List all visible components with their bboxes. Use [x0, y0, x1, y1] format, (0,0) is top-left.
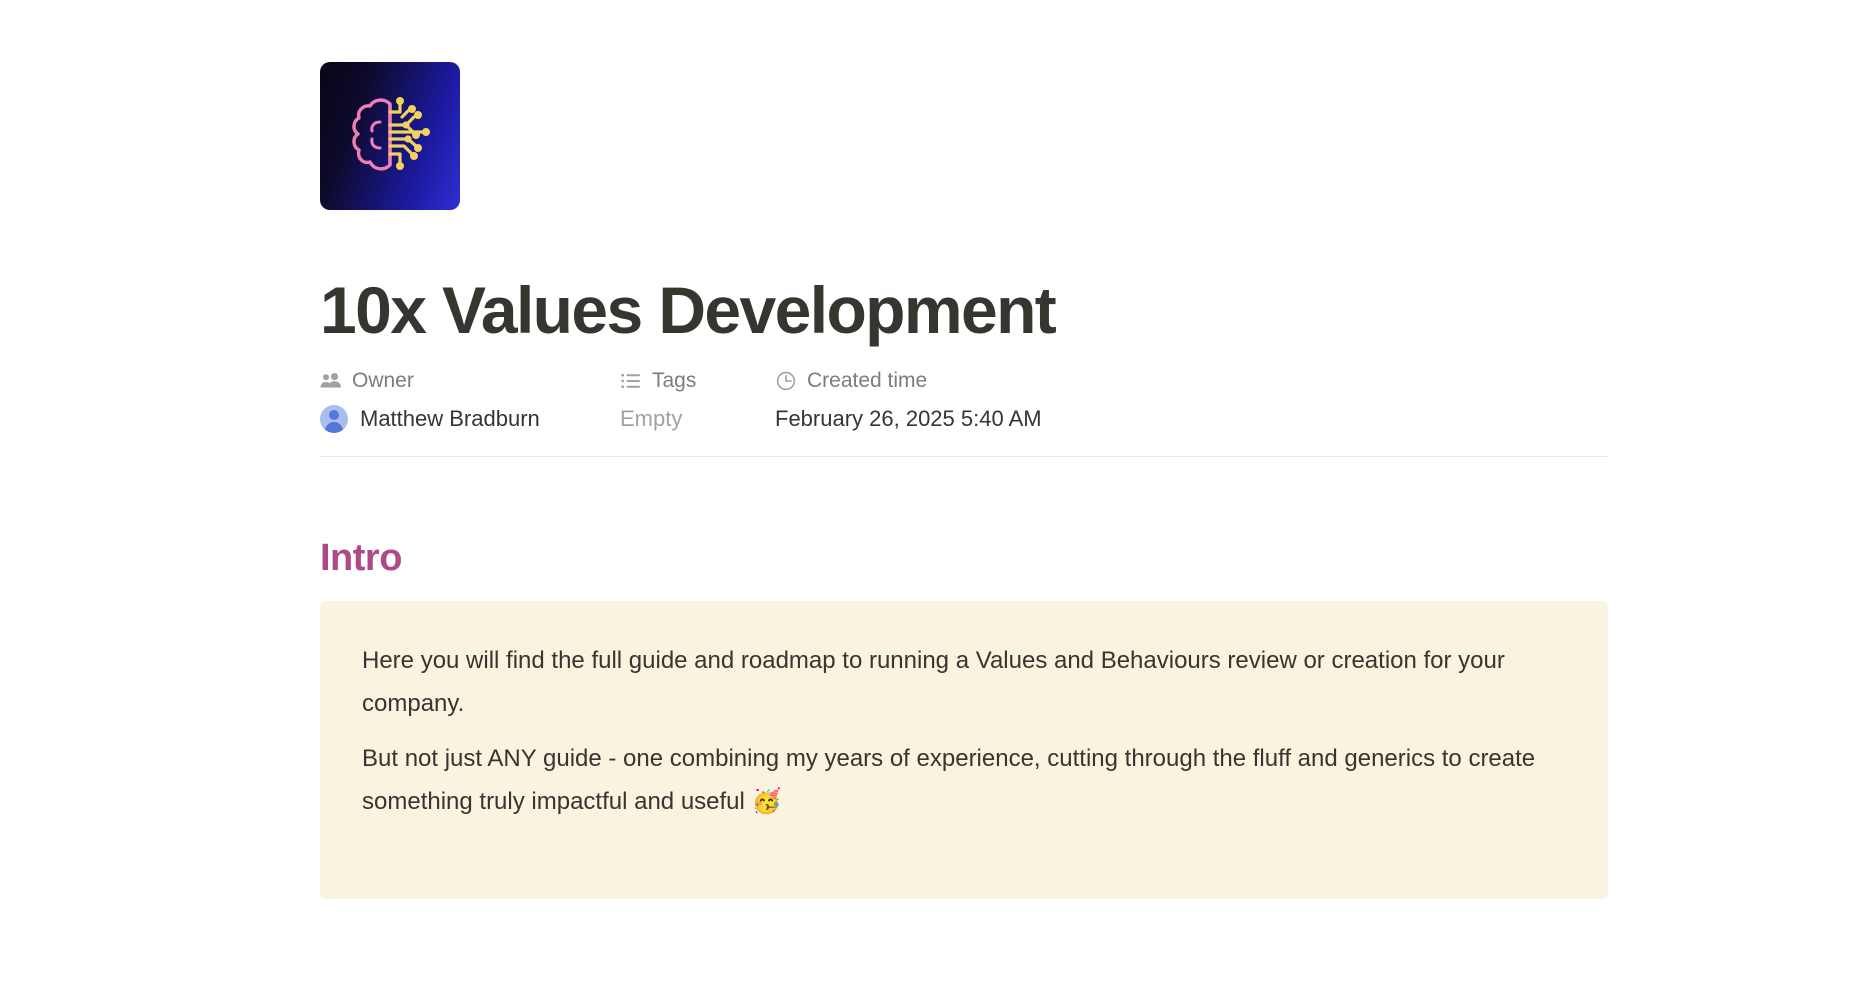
- property-label-text: Created time: [807, 369, 927, 393]
- properties-divider: [320, 456, 1608, 457]
- clock-glyph: [776, 371, 796, 391]
- property-labels-row: Owner: [320, 364, 1620, 398]
- brain-circuit-glyph: [336, 82, 444, 190]
- callout-paragraph-2-text: But not just ANY guide - one combining m…: [362, 745, 1535, 815]
- callout-paragraph-2: But not just ANY guide - one combining m…: [362, 737, 1542, 823]
- callout-block[interactable]: Here you will find the full guide and ro…: [320, 601, 1608, 899]
- property-tags-label[interactable]: Tags: [620, 369, 775, 393]
- property-label-text: Tags: [652, 369, 696, 393]
- property-owner-label[interactable]: Owner: [320, 369, 620, 393]
- tags-empty-text: Empty: [620, 406, 682, 432]
- callout-paragraph-1: Here you will find the full guide and ro…: [362, 639, 1542, 725]
- property-owner-value[interactable]: Matthew Bradburn: [320, 405, 620, 433]
- property-values-row: Matthew Bradburn Empty February 26, 2025…: [320, 402, 1620, 436]
- list-icon: [620, 370, 642, 392]
- property-created-time-label[interactable]: Created time: [775, 369, 1195, 393]
- page-title[interactable]: 10x Values Development: [320, 272, 1620, 348]
- people-glyph: [320, 373, 342, 389]
- brain-circuit-icon[interactable]: [320, 62, 460, 210]
- property-created-time-value[interactable]: February 26, 2025 5:40 AM: [775, 406, 1195, 432]
- people-icon: [320, 370, 342, 392]
- created-time-text: February 26, 2025 5:40 AM: [775, 406, 1042, 432]
- party-face-emoji: 🥳: [752, 788, 782, 815]
- section-heading-intro[interactable]: Intro: [320, 535, 1620, 581]
- property-tags-value[interactable]: Empty: [620, 406, 775, 432]
- page-properties: Owner: [320, 364, 1620, 436]
- avatar: [320, 405, 348, 433]
- list-glyph: [621, 373, 641, 389]
- page-content: 10x Values Development Owner: [320, 0, 1620, 899]
- clock-icon: [775, 370, 797, 392]
- owner-name: Matthew Bradburn: [360, 406, 540, 432]
- property-label-text: Owner: [352, 369, 414, 393]
- notion-page: 10x Values Development Owner: [0, 0, 1852, 984]
